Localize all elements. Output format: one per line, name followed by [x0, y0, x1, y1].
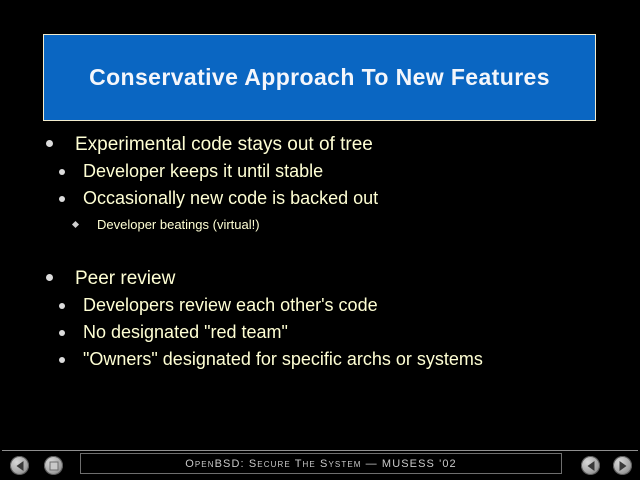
bullet-disc-icon	[59, 330, 65, 336]
list-item-label: Peer review	[75, 265, 175, 292]
list-item-label: Developer keeps it until stable	[83, 158, 323, 185]
page-title: Conservative Approach To New Features	[89, 66, 550, 89]
bullet-diamond-icon	[72, 221, 79, 228]
list-item: Occasionally new code is backed out	[0, 185, 640, 212]
bullet-disc-icon	[59, 357, 65, 363]
bullet-disc-icon	[59, 303, 65, 309]
footer-divider	[2, 450, 638, 451]
list-item: No designated "red team"	[0, 319, 640, 346]
triangle-left-icon	[16, 461, 23, 471]
list-item: Experimental code stays out of tree	[0, 131, 640, 158]
list-item-label: Developers review each other's code	[83, 292, 378, 319]
list-item: Developers review each other's code	[0, 292, 640, 319]
triangle-right-icon	[619, 461, 626, 471]
list-item-label: No designated "red team"	[83, 319, 288, 346]
previous-slide-button[interactable]	[581, 456, 600, 475]
bullet-disc-icon	[46, 140, 53, 147]
triangle-left-icon	[587, 461, 594, 471]
list-item: Peer review	[0, 265, 640, 292]
list-item-label: "Owners" designated for specific archs o…	[83, 346, 483, 373]
bullet-disc-icon	[59, 196, 65, 202]
list-item-label: Occasionally new code is backed out	[83, 185, 378, 212]
list-item-label: Experimental code stays out of tree	[75, 131, 373, 158]
slide-title-banner: Conservative Approach To New Features	[43, 34, 596, 121]
next-slide-button[interactable]	[613, 456, 632, 475]
list-item-label: Developer beatings (virtual!)	[97, 212, 260, 237]
footer-caption-box: OpenBSD: Secure The System — MUSESS '02	[80, 453, 562, 474]
index-button[interactable]	[44, 456, 63, 475]
list-item: Developer beatings (virtual!)	[0, 212, 640, 237]
list-item: "Owners" designated for specific archs o…	[0, 346, 640, 373]
list-item: Developer keeps it until stable	[0, 158, 640, 185]
first-slide-button[interactable]	[10, 456, 29, 475]
bullet-disc-icon	[46, 274, 53, 281]
footer-caption: OpenBSD: Secure The System — MUSESS '02	[185, 458, 457, 470]
list-spacer	[0, 237, 640, 265]
bullet-disc-icon	[59, 169, 65, 175]
square-icon	[49, 461, 58, 470]
slide-canvas: Conservative Approach To New Features Ex…	[0, 0, 640, 480]
slide-body: Experimental code stays out of tree Deve…	[0, 131, 640, 373]
